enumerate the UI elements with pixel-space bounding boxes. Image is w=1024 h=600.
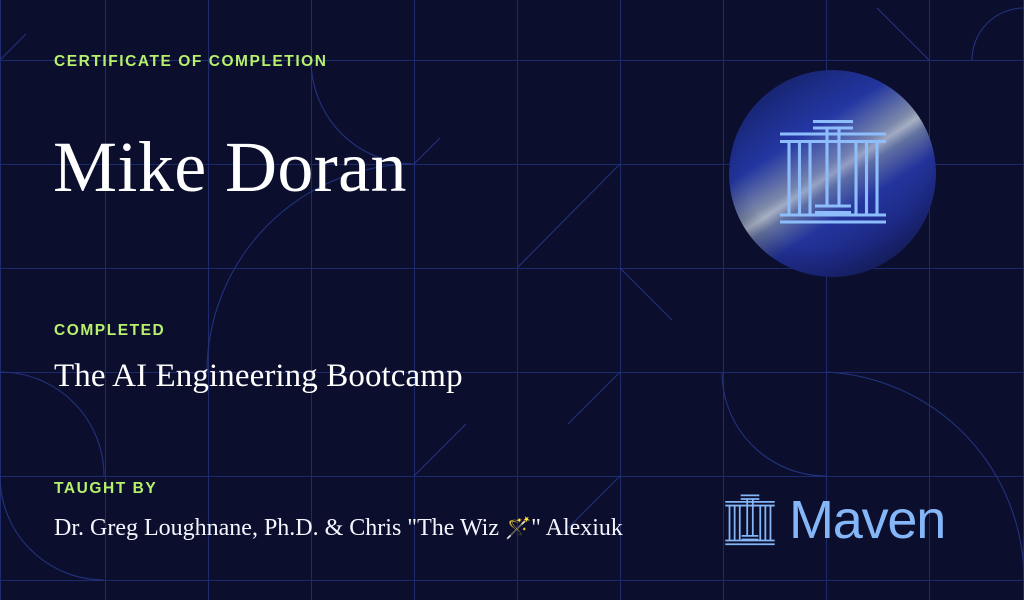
maven-wordmark-text: Maven bbox=[789, 493, 945, 547]
certificate-of-completion-label: CERTIFICATE OF COMPLETION bbox=[54, 53, 328, 71]
instructor-names: Dr. Greg Loughnane, Ph.D. & Chris "The W… bbox=[54, 512, 623, 544]
instructor-names-suffix: " Alexiuk bbox=[531, 515, 623, 541]
magic-wand-icon: 🪄 bbox=[505, 516, 531, 540]
recipient-name: Mike Doran bbox=[53, 124, 407, 210]
maven-logo[interactable]: Maven bbox=[723, 492, 945, 548]
course-title: The AI Engineering Bootcamp bbox=[54, 355, 463, 397]
instructor-names-prefix: Dr. Greg Loughnane, Ph.D. & Chris "The W… bbox=[54, 515, 505, 541]
maven-temple-pillars-icon bbox=[723, 492, 777, 548]
certificate-card: CERTIFICATE OF COMPLETION Mike Doran COM… bbox=[0, 0, 1024, 600]
taught-by-label: TAUGHT BY bbox=[54, 480, 157, 498]
certificate-content: CERTIFICATE OF COMPLETION Mike Doran COM… bbox=[0, 0, 1024, 600]
completed-label: COMPLETED bbox=[54, 322, 165, 340]
